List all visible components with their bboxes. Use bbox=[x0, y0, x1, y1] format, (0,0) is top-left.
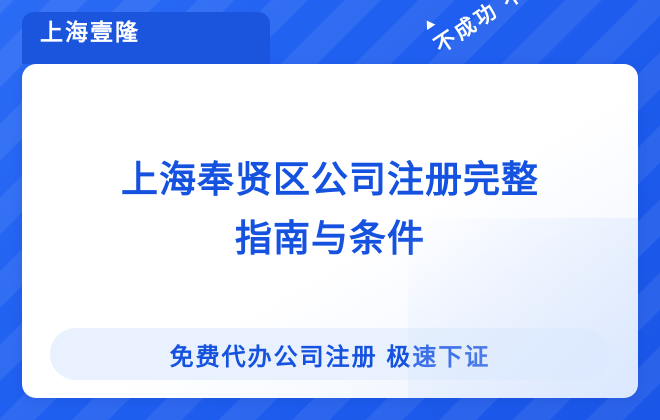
page-title-line-2: 指南与条件 bbox=[22, 209, 638, 268]
subtitle-banner: 免费代办公司注册 极速下证 bbox=[50, 328, 610, 380]
content-card: 上海奉贤区公司注册完整 指南与条件 免费代办公司注册 极速下证 bbox=[22, 64, 638, 398]
caret-icon bbox=[423, 18, 436, 30]
ribbon-slogan: 不成功 不收费 bbox=[428, 0, 571, 59]
brand-name: 上海壹隆 bbox=[40, 13, 140, 47]
page-title: 上海奉贤区公司注册完整 指南与条件 bbox=[22, 150, 638, 268]
poster-banner: 上海壹隆 不成功 不收费 上海奉贤区公司注册完整 指南与条件 免费代办公司注册 … bbox=[0, 0, 660, 420]
subtitle-text: 免费代办公司注册 极速下证 bbox=[170, 337, 491, 372]
page-title-line-1: 上海奉贤区公司注册完整 bbox=[22, 150, 638, 209]
